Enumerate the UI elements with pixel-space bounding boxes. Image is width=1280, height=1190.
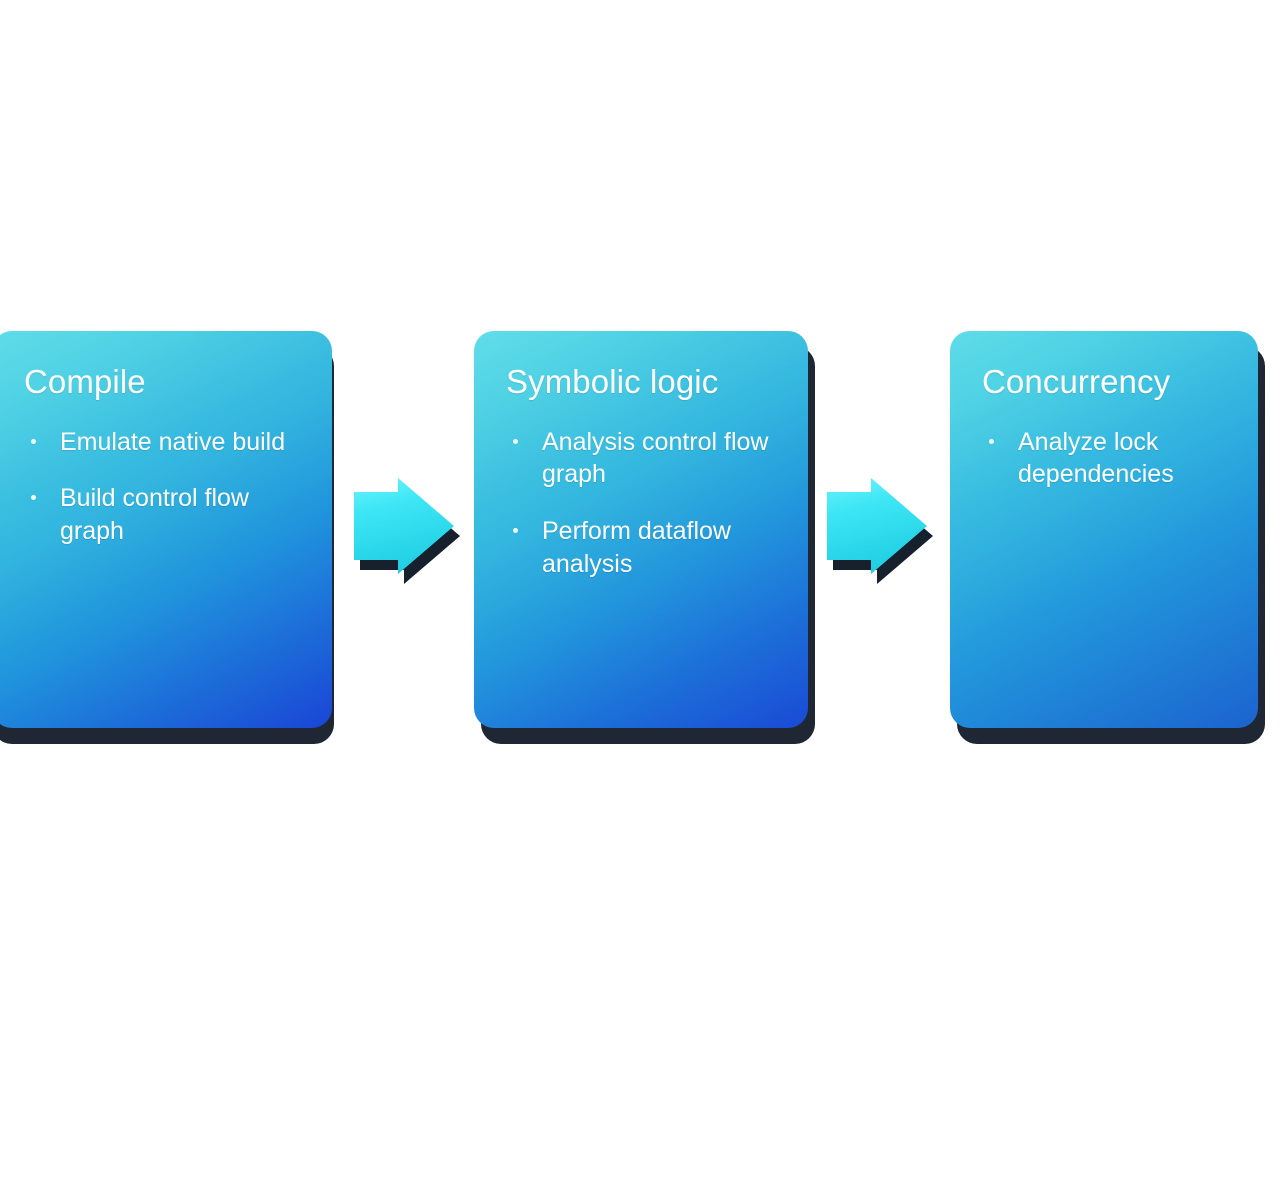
process-node-compile[interactable]: Compile Emulate native build Build contr… [0, 331, 332, 728]
bullet-dot-icon [31, 495, 36, 500]
right-arrow-icon [350, 476, 462, 596]
bullet-item: Build control flow graph [22, 482, 306, 548]
bullet-item: Emulate native build [22, 426, 306, 459]
node-bullets-concurrency: Analyze lock dependencies [980, 426, 1232, 492]
right-arrow-icon [823, 476, 935, 596]
bullet-dot-icon [513, 528, 518, 533]
bullet-text: Analyze lock dependencies [1018, 428, 1174, 489]
node-bullets-symbolic-logic: Analysis control flow graph Perform data… [504, 426, 782, 581]
node-title-concurrency: Concurrency [982, 365, 1232, 400]
bullet-text: Analysis control flow graph [542, 428, 768, 489]
bullet-item: Perform dataflow analysis [504, 515, 782, 581]
connector-arrow-2 [823, 476, 935, 596]
node-title-compile: Compile [24, 365, 306, 400]
process-node-concurrency[interactable]: Concurrency Analyze lock dependencies [950, 331, 1258, 728]
bullet-text: Build control flow graph [60, 484, 249, 545]
bullet-dot-icon [513, 439, 518, 444]
connector-arrow-1 [350, 476, 462, 596]
bullet-dot-icon [989, 439, 994, 444]
bullet-text: Emulate native build [60, 428, 285, 456]
bullet-item: Analysis control flow graph [504, 426, 782, 492]
node-title-symbolic-logic: Symbolic logic [506, 365, 782, 400]
bullet-text: Perform dataflow analysis [542, 517, 731, 578]
bullet-dot-icon [31, 439, 36, 444]
process-node-symbolic-logic[interactable]: Symbolic logic Analysis control flow gra… [474, 331, 808, 728]
bullet-item: Analyze lock dependencies [980, 426, 1232, 492]
node-bullets-compile: Emulate native build Build control flow … [22, 426, 306, 548]
diagram-canvas: Compile Emulate native build Build contr… [0, 0, 1280, 1190]
